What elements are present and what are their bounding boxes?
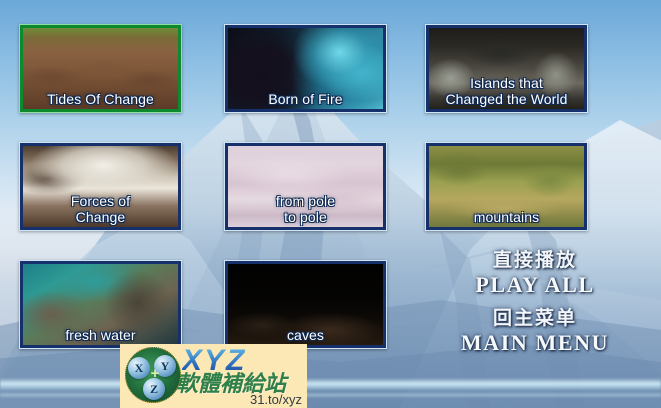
chapter-tile-from-pole-to-pole[interactable]: from poleto pole — [224, 142, 387, 231]
main-menu-label-english: MAIN MENU — [420, 330, 650, 355]
thumbnail-artwork — [429, 146, 584, 227]
chapter-thumbnail: mountains — [429, 146, 584, 227]
chapter-thumbnail: fresh water — [23, 264, 178, 345]
thumbnail-artwork — [23, 146, 178, 227]
chapter-tile-forces-of-change[interactable]: Forces ofChange — [19, 142, 182, 231]
play-all-label-chinese: 直接播放 — [420, 250, 650, 272]
logo-ball-x: X — [128, 357, 150, 379]
chapter-thumbnail: Islands thatChanged the World — [429, 28, 584, 109]
play-all-button[interactable]: 直接播放 PLAY ALL — [420, 250, 650, 297]
dvd-menu-screen: Tides Of ChangeBorn of FireIslands thatC… — [0, 0, 661, 408]
chapter-tile-islands-that-changed-the-world[interactable]: Islands thatChanged the World — [425, 24, 588, 113]
play-all-label-english: PLAY ALL — [420, 272, 650, 297]
chapter-tile-born-of-fire[interactable]: Born of Fire — [224, 24, 387, 113]
thumbnail-artwork — [23, 28, 178, 109]
xyz-watermark: X Y Z + XYZ 軟體補給站 31.to/xyz — [120, 344, 307, 408]
watermark-url: 31.to/xyz — [250, 392, 302, 407]
main-menu-label-chinese: 回主菜单 — [420, 308, 650, 330]
chapter-tile-tides-of-change[interactable]: Tides Of Change — [19, 24, 182, 113]
chapter-tile-mountains[interactable]: mountains — [425, 142, 588, 231]
thumbnail-artwork — [429, 28, 584, 109]
chapter-tile-fresh-water[interactable]: fresh water — [19, 260, 182, 349]
main-menu-button[interactable]: 回主菜单 MAIN MENU — [420, 308, 650, 355]
thumbnail-artwork — [23, 264, 178, 345]
chapter-thumbnail: caves — [228, 264, 383, 345]
thumbnail-artwork — [228, 146, 383, 227]
chapter-thumbnail: Tides Of Change — [23, 28, 178, 109]
thumbnail-artwork — [228, 264, 383, 345]
chapter-thumbnail: from poleto pole — [228, 146, 383, 227]
chapter-tile-caves[interactable]: caves — [224, 260, 387, 349]
chapter-thumbnail: Born of Fire — [228, 28, 383, 109]
chapter-thumbnail: Forces ofChange — [23, 146, 178, 227]
xyz-logo-icon: X Y Z + — [125, 347, 181, 403]
thumbnail-artwork — [228, 28, 383, 109]
logo-plus-icon: + — [149, 368, 161, 380]
